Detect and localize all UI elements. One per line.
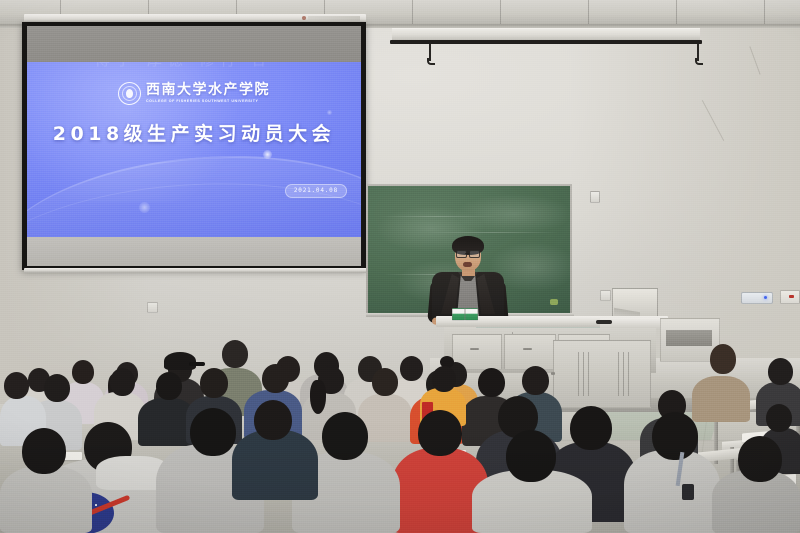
- presentation-slide: 博学 厚德 修行 合一 西南大学水产学院 COLLEGE OF FISHERIE…: [27, 62, 361, 237]
- side-cabinet-slot: [666, 330, 712, 346]
- badge-card: [682, 484, 694, 500]
- panel-red-button[interactable]: [789, 295, 794, 298]
- screen-pull-hook-icon[interactable]: [695, 58, 703, 65]
- lecture-hall-photo: 博学 厚德 修行 合一 西南大学水产学院 COLLEGE OF FISHERIE…: [0, 0, 800, 533]
- slide-dot-decoration: [263, 150, 272, 159]
- ceiling-tile-seam: [676, 0, 677, 26]
- ceiling-tile-seam: [500, 0, 501, 26]
- control-panel[interactable]: [780, 290, 800, 304]
- speaker-mouth: [463, 262, 472, 267]
- podium-door-handle[interactable]: [523, 348, 532, 350]
- tissue-box[interactable]: [465, 308, 478, 321]
- switch-indicator-icon: [764, 296, 767, 299]
- podium-door-handle[interactable]: [470, 348, 479, 350]
- remote-control[interactable]: [596, 320, 612, 324]
- podium-door[interactable]: [504, 334, 556, 370]
- slide-dot-decoration: [139, 202, 150, 213]
- university-seal-icon: [118, 82, 141, 105]
- equipment-cabinet[interactable]: [553, 340, 651, 408]
- roller-indicator-icon: [302, 16, 306, 20]
- screen-bottom-rail: [24, 268, 374, 273]
- lens-left: [456, 250, 467, 258]
- letterbox-bottom: [27, 237, 361, 266]
- chalk-smudge: [454, 194, 570, 234]
- slide-date-badge: 2021.04.08: [285, 184, 347, 198]
- light-switch-panel[interactable]: [741, 292, 773, 304]
- letterbox-top: [27, 26, 361, 62]
- slide-logo-text: 西南大学水产学院 COLLEGE OF FISHERIES SOUTHWEST …: [146, 83, 270, 104]
- cabinet-handle[interactable]: [551, 372, 555, 375]
- slide-watermark-text: 博学 厚德 修行 合一: [27, 62, 361, 70]
- projection-screen-surface: 博学 厚德 修行 合一 西南大学水产学院 COLLEGE OF FISHERIE…: [27, 26, 361, 266]
- lens-right: [469, 250, 480, 258]
- slide-dot-decoration: [327, 110, 332, 115]
- roller-label: [308, 16, 360, 21]
- college-name-chinese: 西南大学水产学院: [146, 83, 270, 98]
- ceiling-tile-seam: [588, 0, 589, 26]
- power-outlet[interactable]: [600, 290, 611, 301]
- ceiling-tile-seam: [764, 0, 765, 26]
- ceiling-tile-seam: [412, 0, 413, 26]
- blackboard-magnet[interactable]: [550, 299, 558, 305]
- slide-logo: 西南大学水产学院 COLLEGE OF FISHERIES SOUTHWEST …: [27, 82, 361, 105]
- college-name-english: COLLEGE OF FISHERIES SOUTHWEST UNIVERSIT…: [146, 98, 258, 104]
- power-outlet[interactable]: [147, 302, 158, 313]
- screen-pull-hook-icon[interactable]: [427, 58, 435, 65]
- slide-title: 2018级生产实习动员大会: [27, 119, 361, 146]
- power-outlet[interactable]: [590, 191, 600, 203]
- chalk-streak: [378, 216, 498, 217]
- retracted-screen-bar[interactable]: [390, 40, 702, 44]
- eyeglasses-icon: [456, 250, 480, 256]
- tissue-box[interactable]: [452, 308, 465, 321]
- chalk-streak: [428, 232, 558, 233]
